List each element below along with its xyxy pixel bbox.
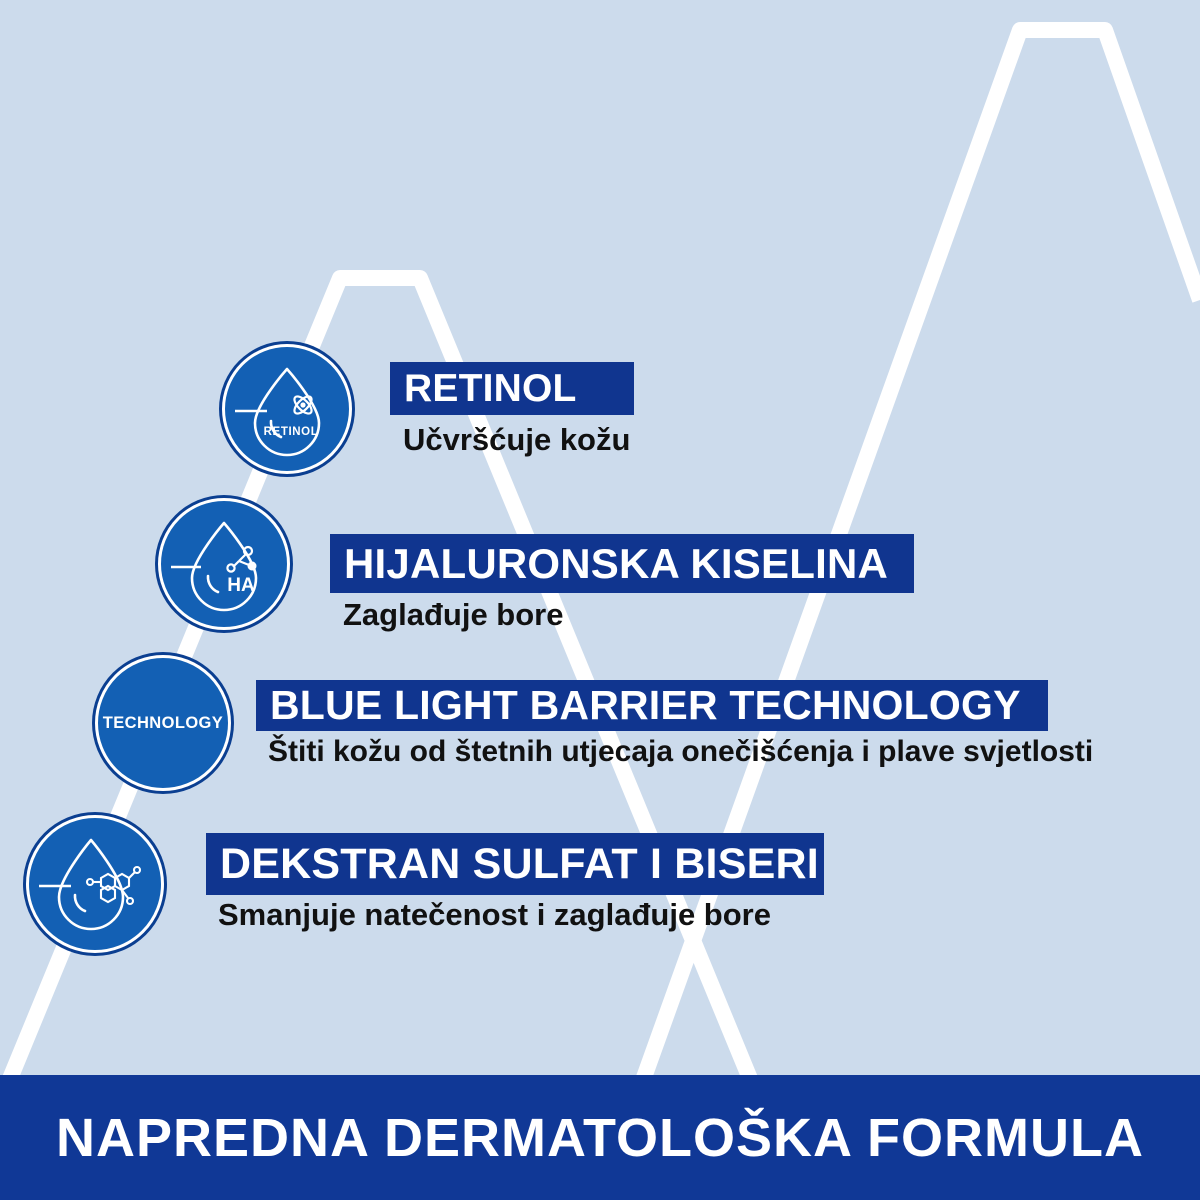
subtitle-dextran-sulfate: Smanjuje natečenost i zaglađuje bore: [218, 897, 771, 933]
footer-banner: NAPREDNA DERMATOLOŠKA FORMULA: [0, 1075, 1200, 1200]
subtitle-blue-light-barrier: Štiti kožu od štetnih utjecaja onečišćen…: [268, 735, 1093, 769]
technology-badge-label: TECHNOLOGY: [103, 714, 223, 733]
title-bar-retinol: RETINOL: [390, 362, 634, 415]
title-bar-blue-light-barrier: BLUE LIGHT BARRIER TECHNOLOGY: [256, 680, 1048, 731]
chevron-peak-right: [600, 30, 1200, 1200]
retinol-droplet-icon: RETINOL: [222, 344, 352, 474]
retinol-icon-label: RETINOL: [264, 426, 319, 438]
infographic-canvas: RETINOL RETINOL Učvršćuje kožu HA HIJALU…: [0, 0, 1200, 1200]
title-text-blue-light-barrier: BLUE LIGHT BARRIER TECHNOLOGY: [270, 682, 1021, 729]
ha-icon-label: HA: [227, 575, 255, 596]
title-text-retinol: RETINOL: [404, 367, 577, 411]
subtitle-hyaluronic-acid: Zaglađuje bore: [343, 597, 563, 633]
dextran-sulfate-droplet-icon: [26, 815, 164, 953]
title-text-dextran-sulfate: DEKSTRAN SULFAT I BISERI: [220, 840, 819, 889]
technology-badge-icon: TECHNOLOGY: [95, 655, 231, 791]
title-bar-hyaluronic-acid: HIJALURONSKA KISELINA: [330, 534, 914, 593]
title-text-hyaluronic-acid: HIJALURONSKA KISELINA: [344, 540, 888, 588]
hyaluronic-acid-droplet-icon: HA: [158, 498, 290, 630]
subtitle-retinol: Učvršćuje kožu: [403, 422, 630, 458]
footer-heading: NAPREDNA DERMATOLOŠKA FORMULA: [56, 1107, 1144, 1169]
title-bar-dextran-sulfate: DEKSTRAN SULFAT I BISERI: [206, 833, 824, 895]
